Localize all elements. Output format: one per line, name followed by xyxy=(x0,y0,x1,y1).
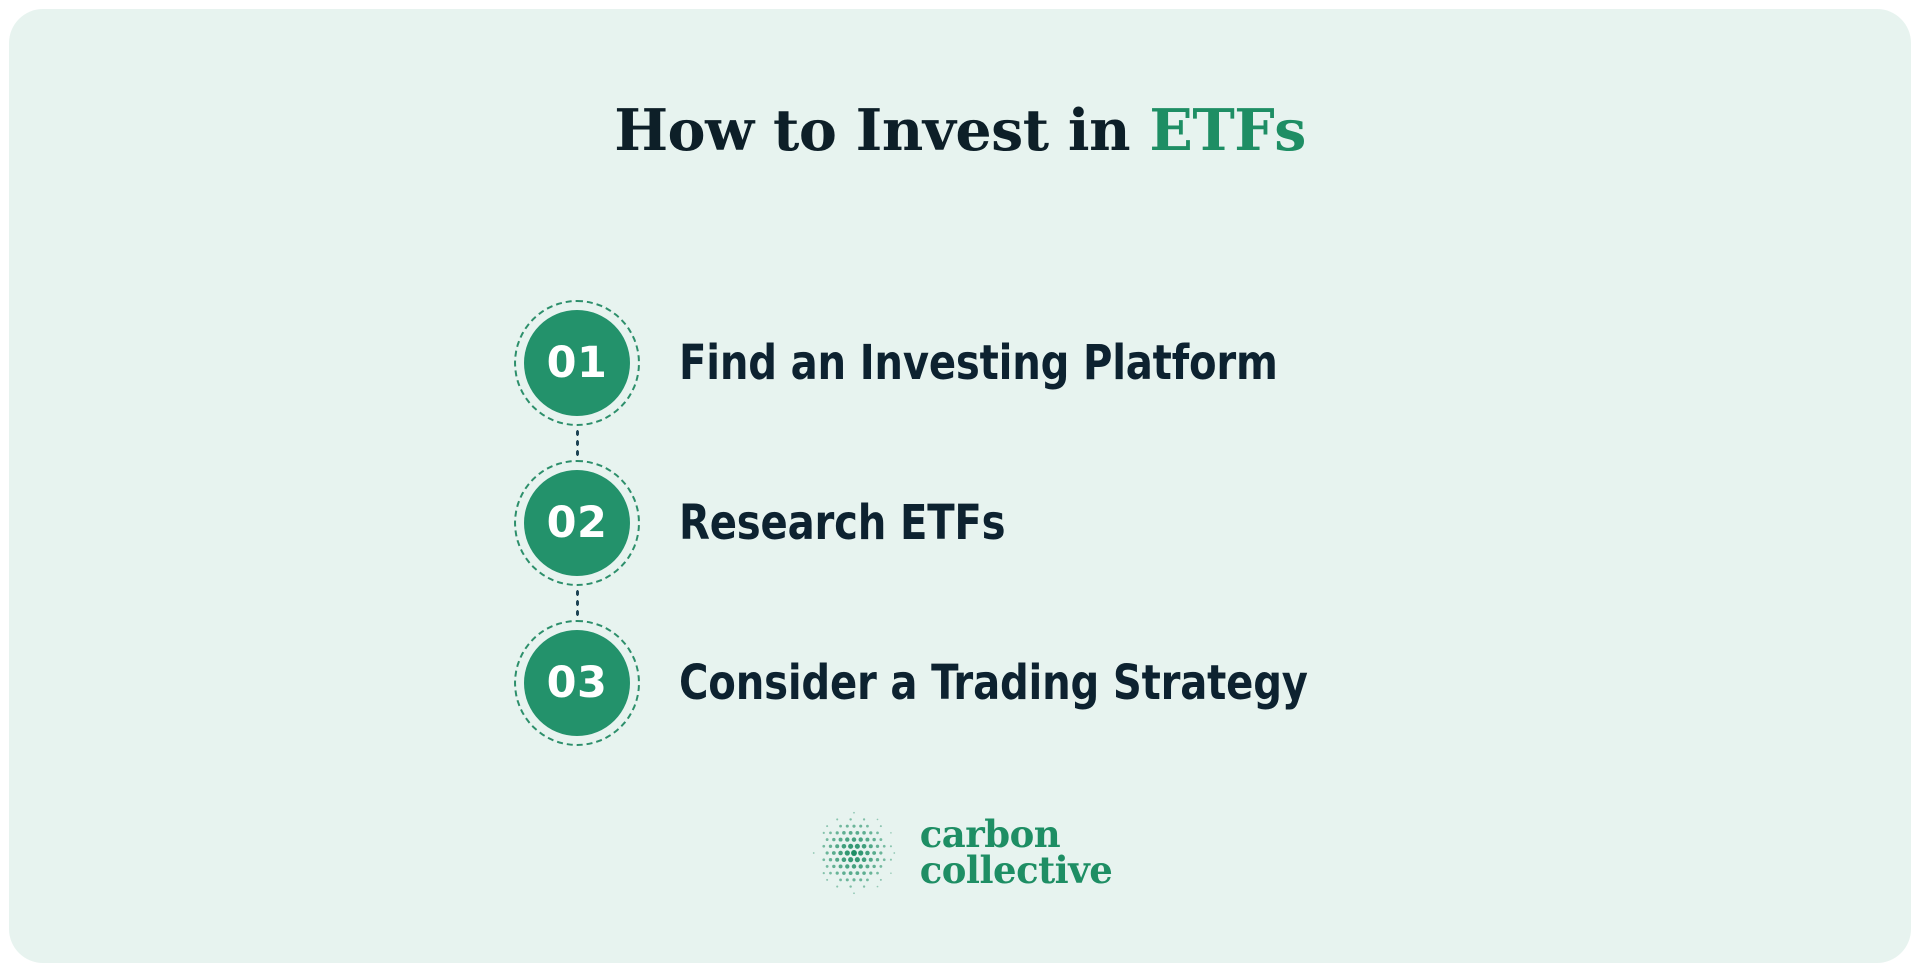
step-number: 01 xyxy=(547,342,608,385)
step-label: Research ETFs xyxy=(679,495,1005,551)
list-item: 02 Research ETFs xyxy=(514,459,1614,587)
step-badge-disc: 03 xyxy=(524,630,630,736)
carbon-collective-dot-cluster-icon xyxy=(808,807,900,899)
list-item: 01 Find an Investing Platform xyxy=(514,299,1614,427)
step-connector-dots xyxy=(575,587,580,619)
page-title-lead: How to Invest in xyxy=(614,97,1149,164)
step-badge-disc: 01 xyxy=(524,310,630,416)
step-number: 02 xyxy=(547,502,608,545)
step-badge: 01 xyxy=(514,300,640,426)
brand-logo: carbon collective xyxy=(9,807,1911,899)
list-item: 03 Consider a Trading Strategy xyxy=(514,619,1614,747)
step-label: Find an Investing Platform xyxy=(679,335,1278,391)
infographic-canvas: How to Invest in ETFs 01 Find an Investi… xyxy=(0,0,1920,972)
step-connector-dots xyxy=(575,427,580,459)
step-label: Consider a Trading Strategy xyxy=(679,655,1308,711)
brand-wordmark: carbon collective xyxy=(920,817,1113,888)
content-card: How to Invest in ETFs 01 Find an Investi… xyxy=(9,9,1911,963)
step-number: 03 xyxy=(547,662,608,705)
step-badge: 02 xyxy=(514,460,640,586)
page-title: How to Invest in ETFs xyxy=(9,97,1911,165)
step-badge: 03 xyxy=(514,620,640,746)
steps-list: 01 Find an Investing Platform 02 Researc… xyxy=(514,299,1614,747)
brand-wordmark-line2: collective xyxy=(920,853,1113,889)
step-badge-disc: 02 xyxy=(524,470,630,576)
page-title-accent: ETFs xyxy=(1149,97,1305,164)
